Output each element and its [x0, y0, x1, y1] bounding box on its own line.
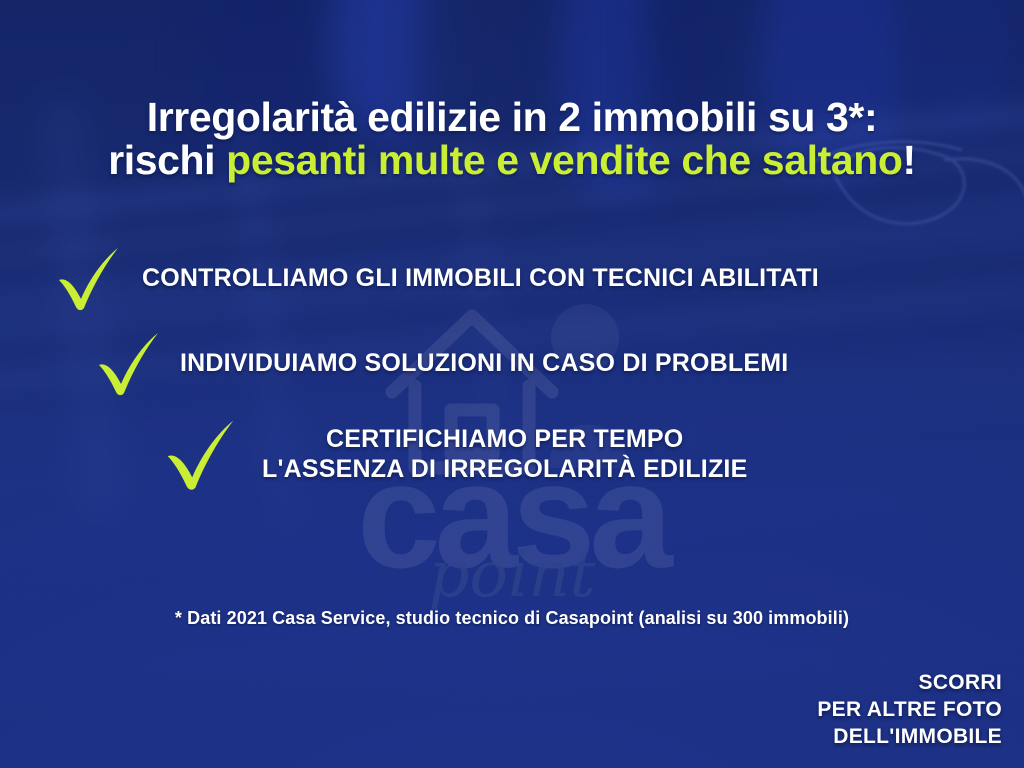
promo-image-canvas: casa point Irregolarità edilizie in 2 im… — [0, 0, 1024, 768]
headline-line-2-suffix: ! — [903, 137, 916, 183]
benefits-checklist: CONTROLLIAMO GLI IMMOBILI CON TECNICI AB… — [0, 236, 1024, 502]
checkmark-icon — [160, 414, 240, 494]
list-item-line: L'ASSENZA DI IRREGOLARITÀ EDILIZIE — [262, 454, 747, 485]
list-item-line: CONTROLLIAMO GLI IMMOBILI CON TECNICI AB… — [142, 263, 819, 294]
list-item-label: CERTIFICHIAMO PER TEMPO L'ASSENZA DI IRR… — [262, 424, 747, 485]
checkmark-icon — [52, 242, 124, 314]
headline-line-1: Irregolarità edilizie in 2 immobili su 3… — [0, 96, 1024, 139]
page-title: Irregolarità edilizie in 2 immobili su 3… — [0, 96, 1024, 181]
list-item-line: CERTIFICHIAMO PER TEMPO — [262, 424, 747, 455]
headline-line-2: rischi pesanti multe e vendite che salta… — [0, 139, 1024, 182]
headline-emphasis: pesanti multe e vendite che saltano — [226, 137, 902, 183]
list-item: CERTIFICHIAMO PER TEMPO L'ASSENZA DI IRR… — [160, 406, 1024, 502]
checkmark-icon — [92, 327, 164, 399]
scroll-cta-line-1: SCORRI — [682, 670, 1002, 697]
list-item-line: INDIVIDUIAMO SOLUZIONI IN CASO DI PROBLE… — [180, 348, 788, 379]
list-item: INDIVIDUIAMO SOLUZIONI IN CASO DI PROBLE… — [92, 320, 1024, 406]
promo-content: Irregolarità edilizie in 2 immobili su 3… — [0, 0, 1024, 768]
scroll-cta-line-3: DELL'IMMOBILE — [682, 724, 1002, 751]
list-item-label: INDIVIDUIAMO SOLUZIONI IN CASO DI PROBLE… — [180, 348, 788, 379]
headline-line-2-prefix: rischi — [108, 137, 226, 183]
list-item-label: CONTROLLIAMO GLI IMMOBILI CON TECNICI AB… — [142, 263, 819, 294]
footnote-text: * Dati 2021 Casa Service, studio tecnico… — [0, 608, 1024, 629]
scroll-cta-line-2: PER ALTRE FOTO — [682, 697, 1002, 724]
scroll-call-to-action: SCORRI PER ALTRE FOTO DELL'IMMOBILE — [682, 670, 1002, 751]
list-item: CONTROLLIAMO GLI IMMOBILI CON TECNICI AB… — [52, 236, 1024, 320]
